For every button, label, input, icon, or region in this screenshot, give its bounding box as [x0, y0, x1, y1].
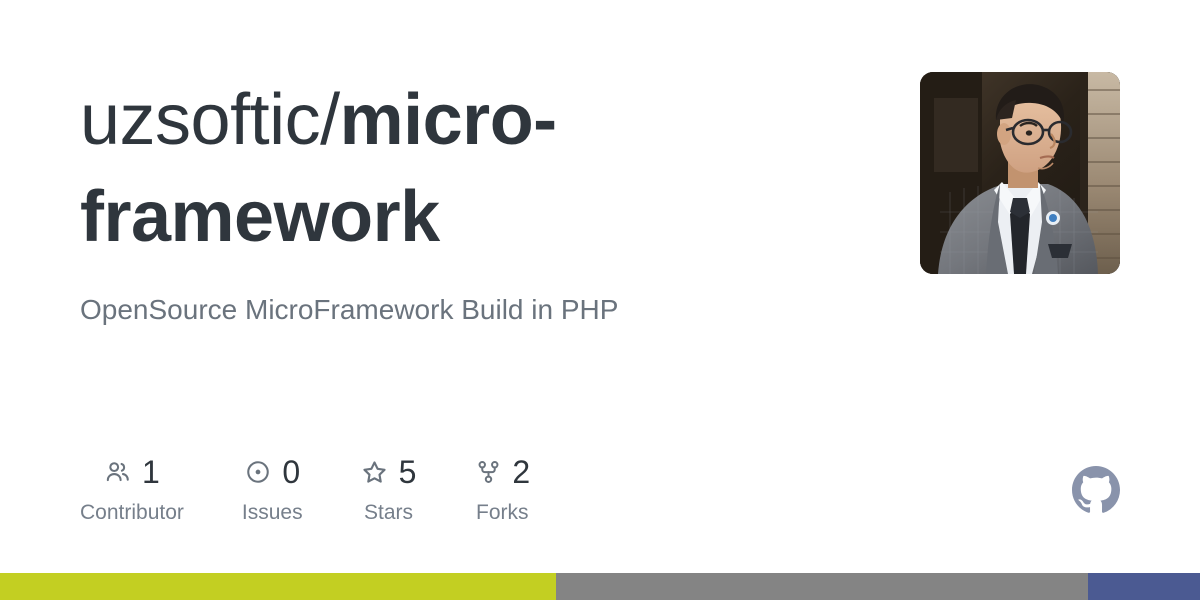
star-icon	[361, 458, 389, 486]
repo-separator: /	[320, 80, 340, 160]
issue-opened-icon	[244, 458, 272, 486]
stat-stars[interactable]: 5 Stars	[361, 452, 417, 523]
stat-issues[interactable]: 0 Issues	[242, 452, 303, 523]
page-title: uzsoftic/micro-framework	[80, 72, 700, 266]
repo-owner[interactable]: uzsoftic	[80, 80, 320, 160]
stat-value: 5	[399, 456, 417, 488]
stat-forks[interactable]: 2 Forks	[474, 452, 530, 523]
stat-value: 0	[282, 456, 300, 488]
stat-label: Forks	[476, 502, 529, 523]
stat-label: Contributor	[80, 502, 184, 523]
repository-header: uzsoftic/micro-framework OpenSource Micr…	[80, 72, 1120, 329]
repository-social-preview: uzsoftic/micro-framework OpenSource Micr…	[0, 0, 1200, 600]
avatar	[920, 72, 1120, 274]
language-segment-1	[0, 573, 556, 600]
title-block: uzsoftic/micro-framework OpenSource Micr…	[80, 72, 700, 329]
stat-top-row: 0	[244, 452, 300, 492]
language-bar	[0, 573, 1200, 600]
language-segment-2	[556, 573, 1089, 600]
stat-contributor[interactable]: 1 Contributor	[80, 452, 184, 523]
repository-stats: 1 Contributor 0 Issues	[80, 452, 760, 523]
stat-label: Stars	[364, 502, 413, 523]
people-icon	[104, 458, 132, 486]
github-mark-icon	[1072, 466, 1120, 514]
stat-value: 1	[142, 456, 160, 488]
repository-description: OpenSource MicroFramework Build in PHP	[80, 292, 700, 328]
stat-value: 2	[512, 456, 530, 488]
stat-top-row: 5	[361, 452, 417, 492]
repo-forked-icon	[474, 458, 502, 486]
stat-top-row: 2	[474, 452, 530, 492]
stat-label: Issues	[242, 502, 303, 523]
stat-top-row: 1	[104, 452, 160, 492]
language-segment-3	[1088, 573, 1200, 600]
